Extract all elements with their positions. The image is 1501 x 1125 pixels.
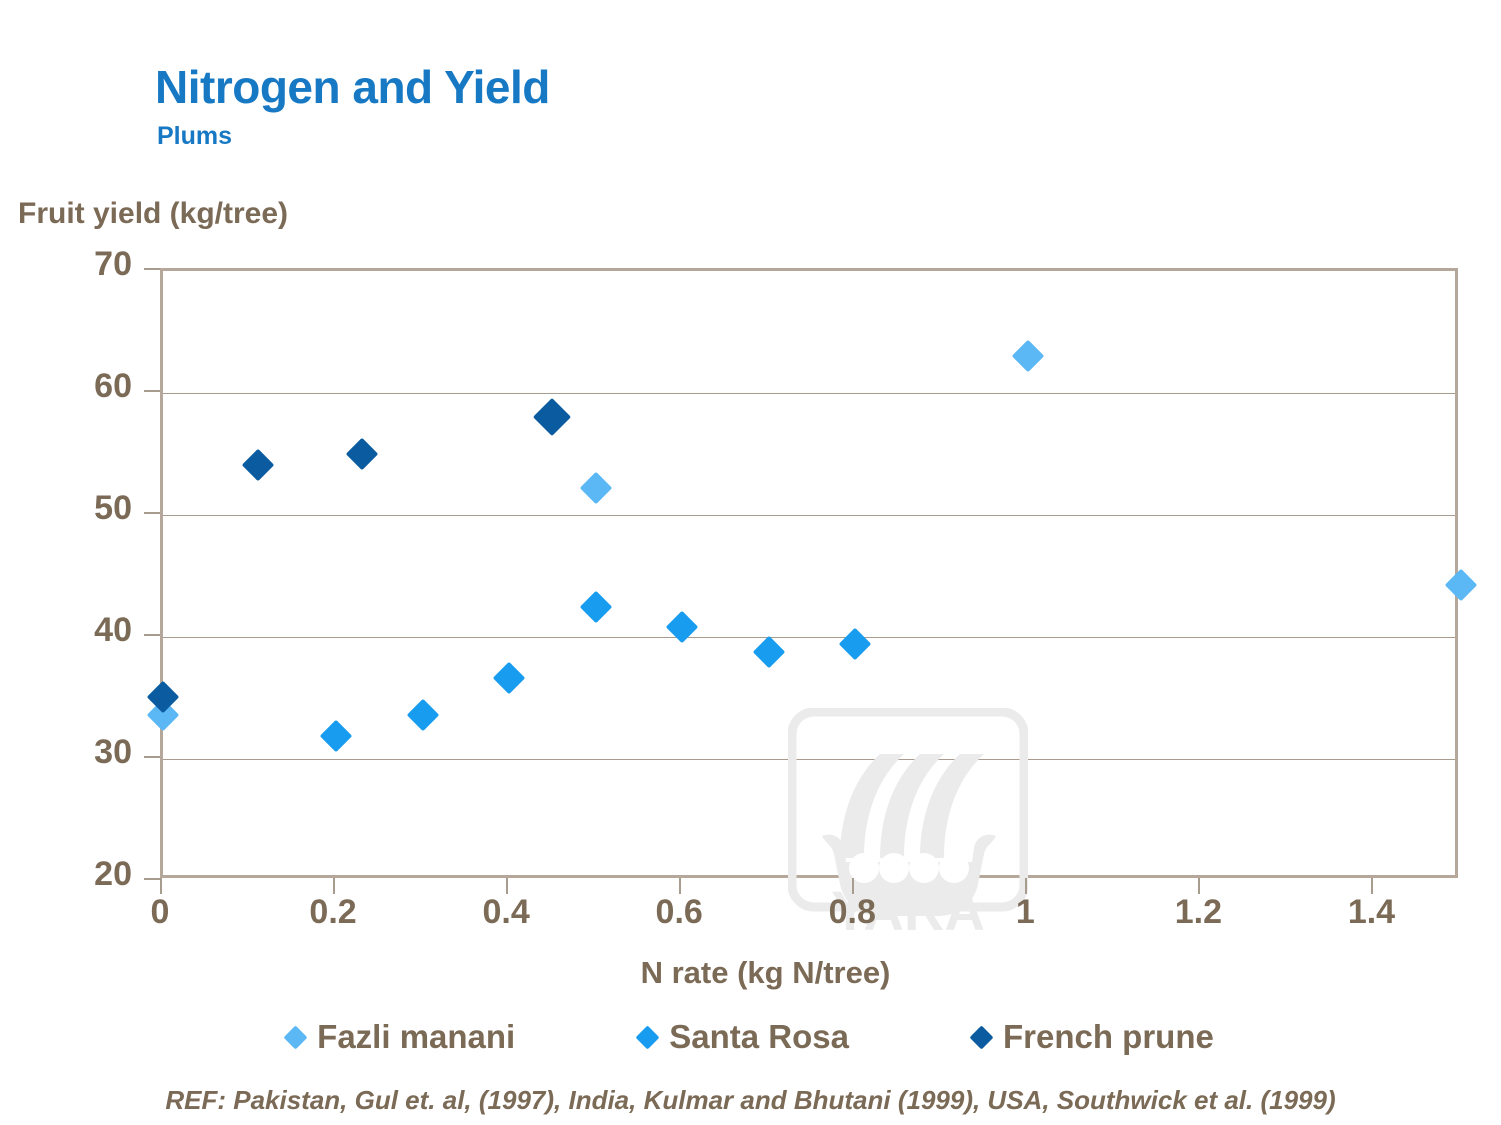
y-axis-tick — [144, 268, 160, 270]
legend-marker-icon — [969, 1025, 993, 1049]
reference-note: REF: Pakistan, Gul et. al, (1997), India… — [0, 1085, 1501, 1116]
chart-title: Nitrogen and Yield — [155, 60, 550, 114]
data-point — [752, 635, 785, 668]
x-axis-tick-label: 1.2 — [1138, 893, 1258, 932]
x-axis-tick-label: 0.8 — [792, 893, 912, 932]
data-point — [406, 699, 439, 732]
x-axis-title-text: N rate (kg N/tree) — [641, 955, 891, 990]
x-axis-tick-label: 1 — [965, 893, 1085, 932]
legend-label: French prune — [1003, 1018, 1214, 1056]
plot-area: YARA — [160, 268, 1458, 878]
data-point — [320, 720, 353, 753]
x-axis-tick — [1198, 878, 1200, 894]
data-point — [346, 438, 379, 471]
data-point — [1445, 568, 1478, 601]
x-axis-tick — [1025, 878, 1027, 894]
x-axis-title: N rate (kg N/tree) — [0, 955, 1501, 991]
x-axis-tick — [506, 878, 508, 894]
y-axis-tick-label: 50 — [52, 489, 132, 528]
y-axis-tick — [144, 634, 160, 636]
data-point — [666, 611, 699, 644]
legend-label: Fazli manani — [317, 1018, 515, 1056]
legend-item-santa-rosa[interactable]: Santa Rosa — [639, 1018, 849, 1056]
data-point — [242, 449, 275, 482]
legend-marker-icon — [284, 1025, 308, 1049]
legend-item-fazli-manani[interactable]: Fazli manani — [287, 1018, 515, 1056]
y-axis-tick — [144, 390, 160, 392]
chart-legend: Fazli mananiSanta RosaFrench prune — [0, 1018, 1501, 1056]
y-axis-tick-label: 20 — [52, 855, 132, 894]
data-point — [839, 628, 872, 661]
x-axis-tick — [333, 878, 335, 894]
x-axis-tick — [160, 878, 162, 894]
data-point — [1012, 340, 1045, 373]
y-axis-tick-label: 40 — [52, 611, 132, 650]
y-axis-title: Fruit yield (kg/tree) — [18, 197, 288, 231]
gridline — [163, 393, 1455, 394]
x-axis-tick — [852, 878, 854, 894]
x-axis-tick-label: 0.6 — [619, 893, 739, 932]
y-axis-tick — [144, 512, 160, 514]
x-axis-tick — [1371, 878, 1373, 894]
gridline — [163, 515, 1455, 516]
chart-subtitle: Plums — [157, 122, 232, 151]
x-axis-tick-label: 0.2 — [273, 893, 393, 932]
y-axis-tick-label: 70 — [52, 245, 132, 284]
y-axis-tick-label: 60 — [52, 367, 132, 406]
legend-label: Santa Rosa — [669, 1018, 849, 1056]
legend-item-french-prune[interactable]: French prune — [973, 1018, 1214, 1056]
y-axis-tick-label: 30 — [52, 733, 132, 772]
x-axis-tick-label: 1.4 — [1311, 893, 1431, 932]
y-axis-tick — [144, 878, 160, 880]
gridline — [163, 637, 1455, 638]
x-axis-tick — [679, 878, 681, 894]
data-point — [533, 398, 571, 436]
data-point — [493, 662, 526, 695]
x-axis-tick-label: 0 — [100, 893, 220, 932]
chart-container: Nitrogen and Yield Plums Fruit yield (kg… — [0, 0, 1501, 1125]
data-point — [579, 590, 612, 623]
x-axis-tick-label: 0.4 — [446, 893, 566, 932]
legend-marker-icon — [636, 1025, 660, 1049]
y-axis-tick — [144, 756, 160, 758]
gridline — [163, 759, 1455, 760]
data-point — [579, 472, 612, 505]
